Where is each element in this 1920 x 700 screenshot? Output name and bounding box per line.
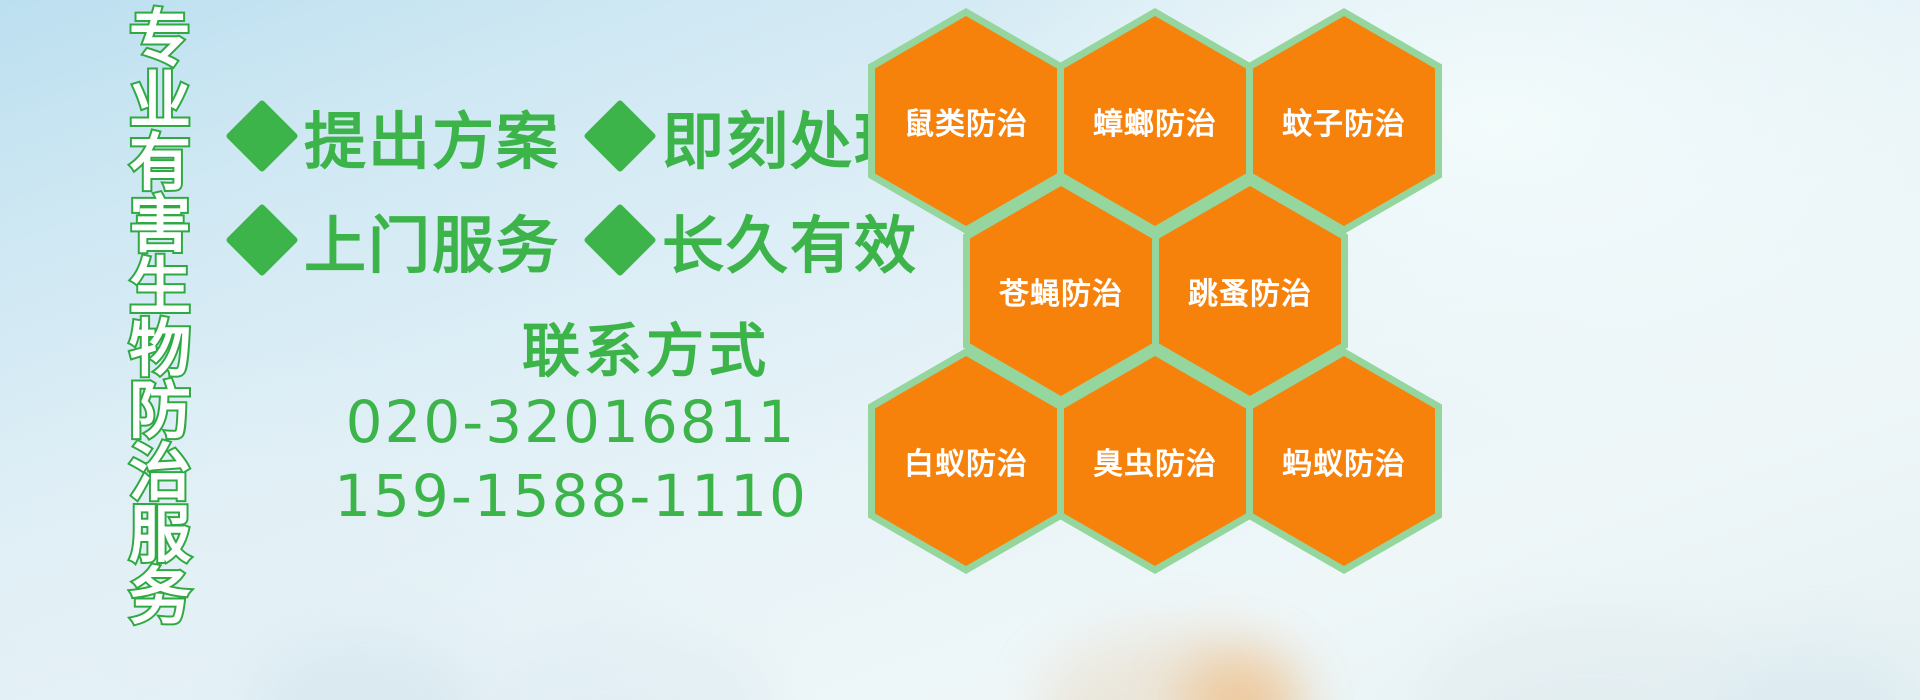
service-label: 蟑螂防治 <box>1093 99 1217 143</box>
vertical-title-char: 服 <box>129 504 191 566</box>
contact-phone-landline[interactable]: 020-32016811 <box>236 385 876 459</box>
feature-row: 上门服务 长久有效 <box>236 188 876 292</box>
background-blob <box>1720 640 1920 700</box>
service-honeycomb: 鼠类防治 蟑螂防治 蚊子防治 苍蝇防治 跳蚤防治 白蚁防治 <box>860 0 1460 580</box>
service-label: 蚊子防治 <box>1282 99 1406 143</box>
promo-banner: 专 业 有 害 生 物 防 治 服 务 提出方案 即刻处理 上门服务 长久有效 … <box>0 0 1920 700</box>
contact-phone-mobile[interactable]: 159-1588-1110 <box>236 459 876 533</box>
background-blob <box>470 630 770 700</box>
vertical-title-char: 业 <box>129 70 191 132</box>
feature-list: 提出方案 即刻处理 上门服务 长久有效 <box>236 84 876 292</box>
vertical-title-char: 务 <box>129 566 191 628</box>
service-label: 苍蝇防治 <box>999 269 1123 313</box>
vertical-title-char: 专 <box>129 8 191 70</box>
diamond-bullet-icon <box>583 99 657 173</box>
contact-block: 联系方式 020-32016811 159-1588-1110 <box>236 318 876 533</box>
diamond-bullet-icon <box>225 99 299 173</box>
service-label: 鼠类防治 <box>904 99 1028 143</box>
service-label: 臭虫防治 <box>1093 439 1217 483</box>
service-hex-inner: 白蚁防治 <box>875 356 1057 566</box>
vertical-title-char: 治 <box>129 442 191 504</box>
vertical-title-char: 有 <box>129 132 191 194</box>
vertical-title-char: 生 <box>129 256 191 318</box>
service-hex-inner: 蚂蚁防治 <box>1253 356 1435 566</box>
service-label: 白蚁防治 <box>904 439 1028 483</box>
background-blob <box>1420 615 1760 700</box>
service-label: 跳蚤防治 <box>1188 269 1312 313</box>
feature-label: 提出方案 <box>304 91 560 181</box>
vertical-title-char: 防 <box>129 380 191 442</box>
vertical-title-char: 害 <box>129 194 191 256</box>
diamond-bullet-icon <box>225 203 299 277</box>
vertical-title: 专 业 有 害 生 物 防 治 服 务 <box>112 8 208 568</box>
vertical-title-char: 物 <box>129 318 191 380</box>
service-hex-inner: 鼠类防治 <box>875 16 1057 226</box>
service-hex-inner: 跳蚤防治 <box>1159 186 1341 396</box>
service-hex-inner: 臭虫防治 <box>1064 356 1246 566</box>
contact-title: 联系方式 <box>236 318 876 385</box>
diamond-bullet-icon <box>583 203 657 277</box>
feature-label: 上门服务 <box>304 195 560 285</box>
service-hex-inner: 蚊子防治 <box>1253 16 1435 226</box>
service-hex-inner: 苍蝇防治 <box>970 186 1152 396</box>
background-blob <box>250 640 480 700</box>
service-label: 蚂蚁防治 <box>1282 439 1406 483</box>
feature-row: 提出方案 即刻处理 <box>236 84 876 188</box>
service-hex-inner: 蟑螂防治 <box>1064 16 1246 226</box>
